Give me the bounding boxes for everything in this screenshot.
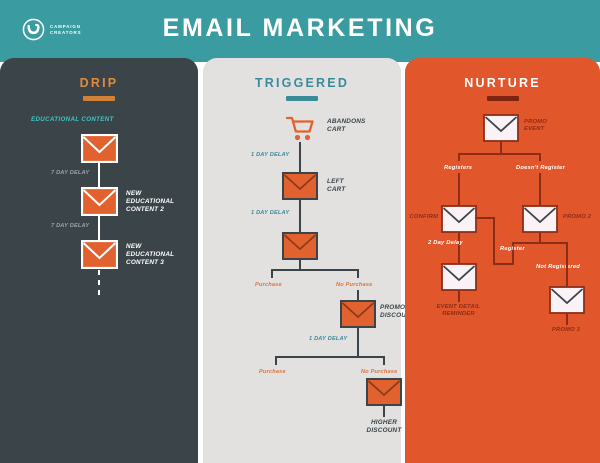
connector-nurture-6 bbox=[566, 242, 568, 262]
label-delay-trig-3: 1 DAY DELAY bbox=[309, 336, 347, 343]
connector-nurture-branch-registers bbox=[458, 153, 460, 161]
shopping-cart-icon-abandons-cart[interactable] bbox=[286, 116, 314, 142]
envelope-icon-promo-event[interactable] bbox=[483, 114, 519, 142]
column-drip: DRIP EDUCATIONAL CONTENT 7 DAY DELAY NEW… bbox=[0, 58, 198, 463]
envelope-icon-event-detail-reminder[interactable] bbox=[441, 263, 477, 291]
connector-nurture-branch-doesnt-register bbox=[539, 153, 541, 161]
label-new-educational-content-3: NEW EDUCATIONAL CONTENT 3 bbox=[126, 243, 174, 267]
connector-trig-branch-purchase-1 bbox=[271, 269, 273, 278]
column-title-nurture: NURTURE bbox=[405, 76, 600, 90]
envelope-icon-promo-3[interactable] bbox=[549, 286, 585, 314]
label-educational-content: EDUCATIONAL CONTENT bbox=[31, 116, 114, 124]
label-branch-purchase-2: Purchase bbox=[259, 369, 286, 376]
connector-nurture-register-up bbox=[493, 217, 495, 264]
connector-trig-6 bbox=[383, 406, 385, 417]
label-new-educational-content-2: NEW EDUCATIONAL CONTENT 2 bbox=[126, 190, 174, 214]
connector-nurture-4 bbox=[458, 233, 460, 263]
connector-trig-split-2 bbox=[275, 356, 385, 358]
envelope-icon-follow-up-email[interactable] bbox=[282, 232, 318, 260]
column-triggered: TRIGGERED ABANDONS CART 1 DAY DELAY LEFT… bbox=[203, 58, 401, 463]
header-bar: CAMPAIGN CREATORS EMAIL MARKETING bbox=[0, 0, 600, 62]
label-promo-2: PROMO 2 bbox=[563, 214, 591, 221]
envelope-icon-left-cart[interactable] bbox=[282, 172, 318, 200]
label-delay-trig-2: 1 DAY DELAY bbox=[251, 210, 289, 217]
column-nurture: NURTURE PROMO EVENT Registers Doesn't Re… bbox=[405, 58, 600, 463]
label-delay-drip-2: 7 DAY DELAY bbox=[51, 223, 89, 230]
envelope-icon-new-educational-content-3[interactable] bbox=[81, 240, 118, 269]
label-promo-3: PROMO 3 bbox=[536, 327, 596, 334]
connector-trig-branch-nopurchase-1 bbox=[357, 269, 359, 278]
label-abandons-cart: ABANDONS CART bbox=[327, 118, 366, 134]
envelope-icon-educational-content[interactable] bbox=[81, 134, 118, 163]
connector-nurture-3 bbox=[539, 173, 541, 205]
label-delay-drip-1: 7 DAY DELAY bbox=[51, 170, 89, 177]
envelope-icon-new-educational-content-2[interactable] bbox=[81, 187, 118, 216]
connector-nurture-register-into-confirm bbox=[475, 217, 495, 219]
infographic-canvas: CAMPAIGN CREATORS EMAIL MARKETING DRIP E… bbox=[0, 0, 600, 463]
connector-trig-5 bbox=[357, 328, 359, 356]
connector-trig-split-1 bbox=[271, 269, 359, 271]
connector-trig-4 bbox=[357, 290, 359, 300]
connector-drip-1 bbox=[98, 163, 100, 187]
envelope-icon-higher-discount[interactable] bbox=[366, 378, 402, 406]
label-branch-register: Register bbox=[500, 246, 525, 253]
label-event-detail-reminder: EVENT DETAIL REMINDER bbox=[421, 304, 496, 318]
connector-nurture-split-1 bbox=[458, 153, 541, 155]
label-left-cart: LEFT CART bbox=[327, 178, 345, 194]
column-rule-nurture bbox=[487, 96, 519, 101]
connector-drip-continues bbox=[98, 270, 100, 296]
connector-nurture-7 bbox=[458, 291, 460, 302]
envelope-icon-confirm[interactable] bbox=[441, 205, 477, 233]
label-confirm: CONFIRM bbox=[405, 214, 438, 221]
label-branch-no-purchase-1: No Purchase bbox=[336, 282, 372, 289]
page-title: EMAIL MARKETING bbox=[0, 14, 600, 43]
label-branch-registers: Registers bbox=[444, 165, 472, 172]
connector-trig-2 bbox=[299, 200, 301, 232]
column-rule-triggered bbox=[286, 96, 318, 101]
label-promo-event: PROMO EVENT bbox=[524, 119, 547, 133]
label-branch-not-registered: Not Registered bbox=[536, 264, 580, 271]
connector-trig-branch-purchase-2 bbox=[275, 356, 277, 365]
label-branch-doesnt-register: Doesn't Register bbox=[516, 165, 565, 172]
label-branch-no-purchase-2: No Purchase bbox=[361, 369, 397, 376]
connector-nurture-8 bbox=[566, 262, 568, 286]
column-rule-drip bbox=[83, 96, 115, 101]
label-delay-trig-1: 1 DAY DELAY bbox=[251, 152, 289, 159]
connector-nurture-2 bbox=[458, 173, 460, 205]
envelope-icon-promo-discount[interactable] bbox=[340, 300, 376, 328]
label-branch-purchase-1: Purchase bbox=[255, 282, 282, 289]
column-title-drip: DRIP bbox=[0, 76, 198, 90]
envelope-icon-promo-2[interactable] bbox=[522, 205, 558, 233]
connector-nurture-register-left bbox=[493, 263, 514, 265]
label-delay-nurture-1: 2 Day Delay bbox=[428, 240, 463, 247]
connector-drip-2 bbox=[98, 216, 100, 240]
connector-nurture-split-2 bbox=[512, 242, 568, 244]
connector-nurture-9 bbox=[566, 314, 568, 325]
connector-trig-branch-nopurchase-2 bbox=[383, 356, 385, 365]
connector-trig-1 bbox=[299, 142, 301, 172]
column-title-triggered: TRIGGERED bbox=[203, 76, 401, 90]
